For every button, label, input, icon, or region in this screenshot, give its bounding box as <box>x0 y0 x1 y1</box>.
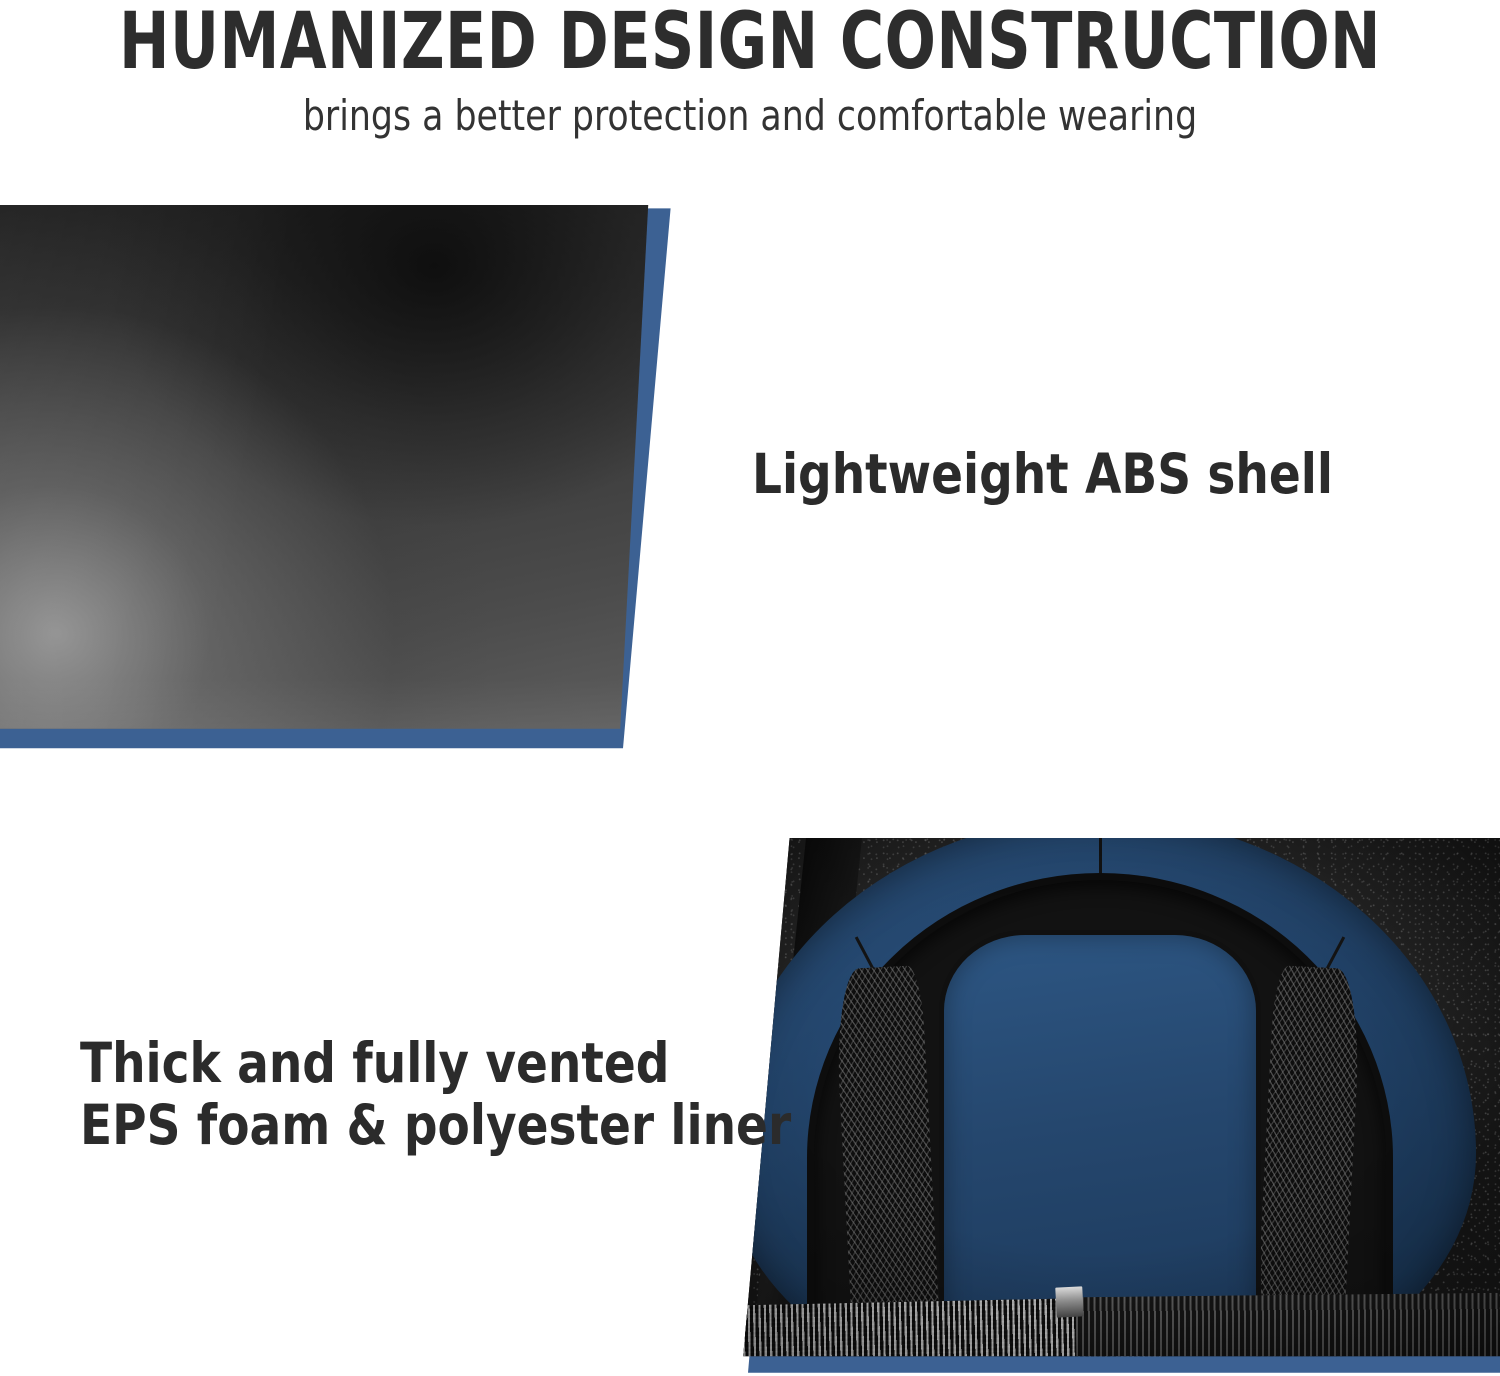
header: HUMANIZED DESIGN CONSTRUCTION brings a b… <box>0 0 1500 180</box>
feature-liner-label: Thick and fully vented EPS foam & polyes… <box>80 1032 791 1156</box>
feature-liner-figure <box>700 838 1500 1376</box>
helmet-liner-photo <box>700 838 1500 1376</box>
feature-shell-label: Lightweight ABS shell <box>752 443 1333 505</box>
feature-liner-label-line-2: EPS foam & polyester liner <box>80 1094 791 1156</box>
feature-shell-figure <box>0 200 700 756</box>
abs-shell-photo <box>0 200 700 756</box>
chin-strap-buckle <box>1055 1287 1084 1318</box>
page-title: HUMANIZED DESIGN CONSTRUCTION <box>105 2 1395 82</box>
feature-liner-label-line-1: Thick and fully vented <box>80 1032 791 1094</box>
infographic-page: HUMANIZED DESIGN CONSTRUCTION brings a b… <box>0 0 1500 1376</box>
page-subtitle: brings a better protection and comfortab… <box>60 92 1440 140</box>
